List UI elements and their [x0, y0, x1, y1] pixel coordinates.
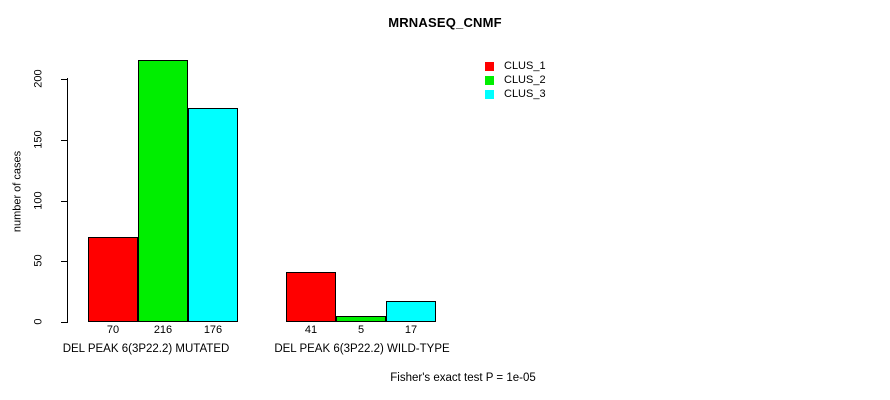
group-label-wild-type: DEL PEAK 6(3P22.2) WILD-TYPE [212, 342, 512, 356]
bar-count-label: 176 [183, 324, 243, 337]
legend-label: CLUS_3 [504, 88, 546, 101]
y-tick-label: 0 [34, 302, 45, 342]
legend-swatch-icon [485, 76, 494, 85]
y-tick-mark [61, 140, 68, 141]
y-tick-mark [61, 79, 68, 80]
bar-clus_1-group2[interactable] [286, 272, 336, 322]
y-tick-label: 50 [34, 241, 45, 281]
y-axis-title: number of cases [13, 132, 24, 252]
chart-canvas: MRNASEQ_CNMF 050100150200 number of case… [0, 0, 890, 400]
y-tick-label: 150 [34, 119, 45, 159]
bar-clus_3-group2[interactable] [386, 301, 436, 322]
y-tick-mark [61, 261, 68, 262]
bar-clus_2-group2[interactable] [336, 316, 386, 322]
y-tick-label: 200 [34, 59, 45, 99]
bar-clus_1-group1[interactable] [88, 237, 138, 322]
bar-clus_3-group1[interactable] [188, 108, 238, 322]
legend-swatch-icon [485, 90, 494, 99]
legend-swatch-icon [485, 62, 494, 71]
bar-clus_2-group1[interactable] [138, 60, 188, 322]
legend-label: CLUS_1 [504, 60, 546, 73]
y-tick-label: 100 [34, 180, 45, 220]
legend-label: CLUS_2 [504, 74, 546, 87]
statistical-test-annotation: Fisher's exact test P = 1e-05 [298, 371, 628, 385]
y-tick-mark [61, 201, 68, 202]
page-title: MRNASEQ_CNMF [0, 15, 890, 30]
y-tick-mark [61, 322, 68, 323]
bar-count-label: 17 [381, 324, 441, 337]
